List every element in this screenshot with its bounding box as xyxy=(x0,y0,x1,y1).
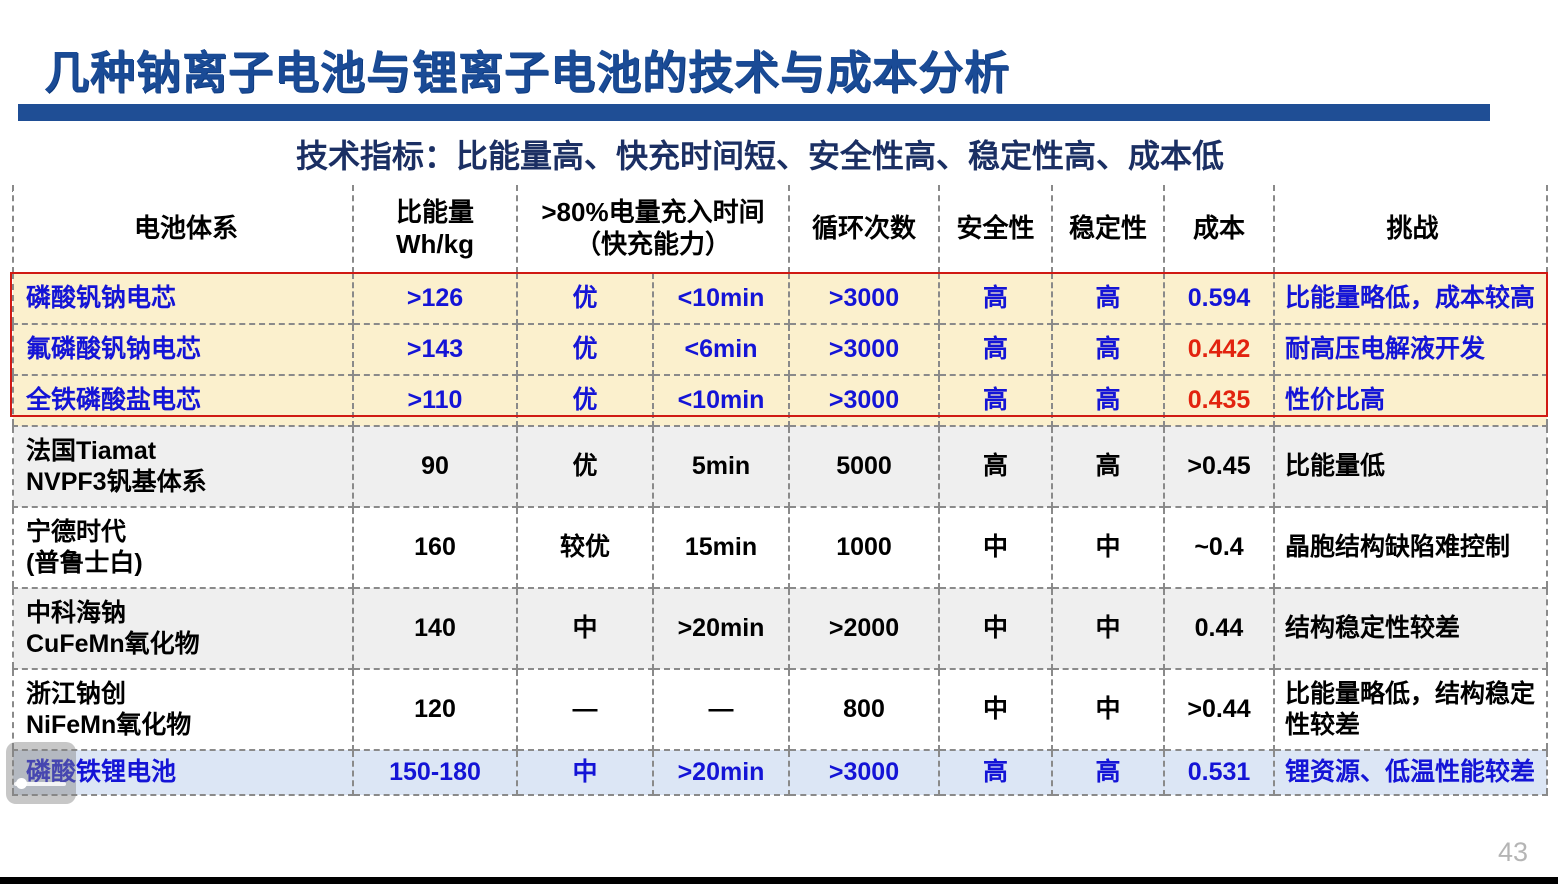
cell-cost: >0.45 xyxy=(1164,426,1274,507)
cell-fast-charge-time: 5min xyxy=(653,426,789,507)
cell-cycles: >3000 xyxy=(789,273,939,324)
col-header-challenge: 挑战 xyxy=(1274,185,1547,273)
cell-cost: ~0.4 xyxy=(1164,507,1274,588)
cell-challenge: 比能量低 xyxy=(1274,426,1547,507)
cell-system-line1: 法国Tiamat xyxy=(26,436,346,467)
cell-energy-density: >143 xyxy=(353,324,517,375)
cell-fast-charge-time: <6min xyxy=(653,324,789,375)
table-row: 宁德时代(普鲁士白)160较优15min1000中中~0.4晶胞结构缺陷难控制 xyxy=(13,507,1547,588)
cell-system-line2: NVPF3钒基体系 xyxy=(26,467,346,498)
cell-energy-density: 160 xyxy=(353,507,517,588)
cell-energy-density: 140 xyxy=(353,588,517,669)
cell-stability: 高 xyxy=(1052,375,1164,426)
cell-energy-density: >126 xyxy=(353,273,517,324)
table-row: 浙江钠创NiFeMn氧化物120——800中中>0.44比能量略低，结构稳定性较… xyxy=(13,669,1547,750)
cell-fast-charge-rating: 优 xyxy=(517,324,653,375)
cell-energy-density: >110 xyxy=(353,375,517,426)
cell-system: 浙江钠创NiFeMn氧化物 xyxy=(13,669,353,750)
cell-cycles: >3000 xyxy=(789,375,939,426)
col-header-stability: 稳定性 xyxy=(1052,185,1164,273)
subtitle-metrics: 技术指标：比能量高、快充时间短、安全性高、稳定性高、成本低 xyxy=(0,131,1520,177)
cell-system: 中科海钠CuFeMn氧化物 xyxy=(13,588,353,669)
cell-stability: 高 xyxy=(1052,750,1164,795)
cell-energy-density: 90 xyxy=(353,426,517,507)
col-header-cost: 成本 xyxy=(1164,185,1274,273)
cell-cycles: >2000 xyxy=(789,588,939,669)
cell-fast-charge-rating: 较优 xyxy=(517,507,653,588)
cell-system-line1: 全铁磷酸盐电芯 xyxy=(26,385,346,416)
cell-system: 氟磷酸钒钠电芯 xyxy=(13,324,353,375)
cell-challenge: 锂资源、低温性能较差 xyxy=(1274,750,1547,795)
cell-system: 磷酸钒钠电芯 xyxy=(13,273,353,324)
table-row: 中科海钠CuFeMn氧化物140中>20min>2000中中0.44结构稳定性较… xyxy=(13,588,1547,669)
table-row: 法国TiamatNVPF3钒基体系90优5min5000高高>0.45比能量低 xyxy=(13,426,1547,507)
cell-cycles: 1000 xyxy=(789,507,939,588)
table-row: 全铁磷酸盐电芯>110优<10min>3000高高0.435性价比高 xyxy=(13,375,1547,426)
cell-system-line2: CuFeMn氧化物 xyxy=(26,629,346,660)
col-header-cycles: 循环次数 xyxy=(789,185,939,273)
cell-system-line1: 磷酸钒钠电芯 xyxy=(26,283,346,314)
media-control-overlay[interactable] xyxy=(6,742,76,804)
cell-fast-charge-time: 15min xyxy=(653,507,789,588)
cell-stability: 中 xyxy=(1052,588,1164,669)
col-header-safety: 安全性 xyxy=(939,185,1052,273)
cell-fast-charge-time: <10min xyxy=(653,273,789,324)
cell-system-line1: 氟磷酸钒钠电芯 xyxy=(26,334,346,365)
table-row: 磷酸铁锂电池150-180中>20min>3000高高0.531锂资源、低温性能… xyxy=(13,750,1547,795)
cell-system-line2: NiFeMn氧化物 xyxy=(26,710,346,741)
cell-safety: 高 xyxy=(939,324,1052,375)
cell-cycles: 5000 xyxy=(789,426,939,507)
slide-canvas: 几种钠离子电池与锂离子电池的技术与成本分析 技术指标：比能量高、快充时间短、安全… xyxy=(0,0,1558,884)
media-progress-knob[interactable] xyxy=(16,778,27,789)
col-header-energy-density: 比能量 Wh/kg xyxy=(353,185,517,273)
col-header-fast-charge-line2: （快充能力） xyxy=(524,229,782,261)
cell-cycles: >3000 xyxy=(789,324,939,375)
cell-stability: 高 xyxy=(1052,324,1164,375)
cell-fast-charge-rating: 优 xyxy=(517,273,653,324)
cell-stability: 高 xyxy=(1052,426,1164,507)
bottom-black-strip xyxy=(0,877,1558,884)
col-header-energy-density-line2: Wh/kg xyxy=(360,229,510,261)
cell-system-line1: 宁德时代 xyxy=(26,517,346,548)
cell-challenge: 性价比高 xyxy=(1274,375,1547,426)
cell-fast-charge-time: <10min xyxy=(653,375,789,426)
cell-system-line2: (普鲁士白) xyxy=(26,548,346,579)
cell-stability: 中 xyxy=(1052,507,1164,588)
comparison-table: 电池体系 比能量 Wh/kg >80%电量充入时间 （快充能力） 循环次数 安全… xyxy=(12,185,1548,796)
cell-cost: 0.442 xyxy=(1164,324,1274,375)
col-header-system: 电池体系 xyxy=(13,185,353,273)
cell-cost: 0.531 xyxy=(1164,750,1274,795)
cell-cost: 0.435 xyxy=(1164,375,1274,426)
cell-system: 法国TiamatNVPF3钒基体系 xyxy=(13,426,353,507)
cell-safety: 中 xyxy=(939,669,1052,750)
cell-energy-density: 120 xyxy=(353,669,517,750)
cell-system-line1: 中科海钠 xyxy=(26,598,346,629)
col-header-fast-charge: >80%电量充入时间 （快充能力） xyxy=(517,185,789,273)
cell-safety: 高 xyxy=(939,750,1052,795)
cell-challenge: 比能量略低，结构稳定性较差 xyxy=(1274,669,1547,750)
cell-fast-charge-rating: 优 xyxy=(517,426,653,507)
cell-challenge: 结构稳定性较差 xyxy=(1274,588,1547,669)
table-header-row: 电池体系 比能量 Wh/kg >80%电量充入时间 （快充能力） 循环次数 安全… xyxy=(13,185,1547,273)
cell-fast-charge-time: — xyxy=(653,669,789,750)
table-row: 磷酸钒钠电芯>126优<10min>3000高高0.594比能量略低，成本较高 xyxy=(13,273,1547,324)
title-underline-bar xyxy=(18,104,1490,121)
cell-fast-charge-time: >20min xyxy=(653,750,789,795)
cell-cycles: >3000 xyxy=(789,750,939,795)
cell-system: 宁德时代(普鲁士白) xyxy=(13,507,353,588)
cell-stability: 中 xyxy=(1052,669,1164,750)
table-row: 氟磷酸钒钠电芯>143优<6min>3000高高0.442耐高压电解液开发 xyxy=(13,324,1547,375)
cell-challenge: 耐高压电解液开发 xyxy=(1274,324,1547,375)
cell-safety: 中 xyxy=(939,588,1052,669)
cell-fast-charge-rating: — xyxy=(517,669,653,750)
col-header-energy-density-line1: 比能量 xyxy=(360,197,510,229)
cell-safety: 高 xyxy=(939,273,1052,324)
cell-fast-charge-time: >20min xyxy=(653,588,789,669)
page-number: 43 xyxy=(1498,837,1528,868)
cell-fast-charge-rating: 中 xyxy=(517,750,653,795)
cell-stability: 高 xyxy=(1052,273,1164,324)
cell-safety: 高 xyxy=(939,375,1052,426)
cell-challenge: 晶胞结构缺陷难控制 xyxy=(1274,507,1547,588)
cell-challenge: 比能量略低，成本较高 xyxy=(1274,273,1547,324)
cell-cycles: 800 xyxy=(789,669,939,750)
page-title: 几种钠离子电池与锂离子电池的技术与成本分析 xyxy=(44,36,1010,101)
cell-energy-density: 150-180 xyxy=(353,750,517,795)
cell-safety: 中 xyxy=(939,507,1052,588)
comparison-table-wrapper: 电池体系 比能量 Wh/kg >80%电量充入时间 （快充能力） 循环次数 安全… xyxy=(12,185,1546,796)
cell-cost: 0.594 xyxy=(1164,273,1274,324)
cell-fast-charge-rating: 中 xyxy=(517,588,653,669)
cell-fast-charge-rating: 优 xyxy=(517,375,653,426)
cell-system-line1: 浙江钠创 xyxy=(26,679,346,710)
col-header-fast-charge-line1: >80%电量充入时间 xyxy=(524,197,782,229)
cell-cost: 0.44 xyxy=(1164,588,1274,669)
cell-safety: 高 xyxy=(939,426,1052,507)
cell-cost: >0.44 xyxy=(1164,669,1274,750)
cell-system: 全铁磷酸盐电芯 xyxy=(13,375,353,426)
